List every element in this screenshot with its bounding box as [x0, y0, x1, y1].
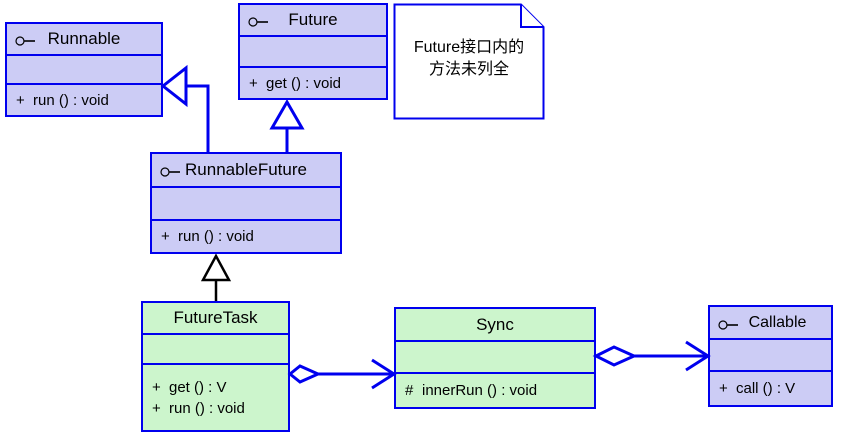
- operation-signature: get () : void: [266, 75, 341, 92]
- operation-visibility: #: [405, 380, 422, 401]
- class-operations-compartment-sync: #innerRun () : void: [396, 374, 594, 407]
- relationship-futuretask-to-sync: [290, 360, 394, 388]
- operation-row: +run () : void: [161, 226, 340, 247]
- class-operations-compartment-futuretask: +get () : V +run () : void: [143, 365, 288, 430]
- class-box-futuretask[interactable]: FutureTask +get () : V +run () : void: [141, 301, 290, 432]
- class-operations-compartment-future: +get () : void: [240, 68, 386, 98]
- operation-visibility: +: [161, 226, 178, 247]
- class-title-compartment-sync: Sync: [396, 309, 594, 342]
- class-title-compartment-runnablefuture: RunnableFuture: [152, 154, 340, 188]
- interface-icon: [718, 317, 740, 328]
- operation-row: +run () : void: [16, 90, 161, 111]
- relationship-runnablefuture-to-runnable: [163, 68, 208, 152]
- interface-icon: [15, 34, 37, 45]
- class-operations-compartment-runnablefuture: +run () : void: [152, 221, 340, 252]
- operation-visibility: +: [719, 378, 736, 399]
- class-box-future[interactable]: Future +get () : void: [238, 3, 388, 100]
- operation-row: +call () : V: [719, 378, 831, 399]
- operation-signature: run () : void: [169, 400, 245, 417]
- relationship-futuretask-to-runnablefuture: [203, 256, 229, 301]
- class-name-futuretask: FutureTask: [173, 308, 257, 328]
- class-attributes-compartment-runnablefuture: [152, 188, 340, 221]
- note-text: Future接口内的 方法未列全: [393, 37, 545, 81]
- operation-signature: run () : void: [33, 92, 109, 109]
- interface-icon: [160, 165, 182, 176]
- class-box-sync[interactable]: Sync #innerRun () : void: [394, 307, 596, 409]
- class-name-future: Future: [288, 10, 337, 30]
- operation-visibility: +: [249, 73, 266, 94]
- class-attributes-compartment-sync: [396, 342, 594, 374]
- operation-row: #innerRun () : void: [405, 380, 594, 401]
- operation-row: +run () : void: [152, 398, 288, 419]
- class-box-callable[interactable]: Callable +call () : V: [708, 305, 833, 407]
- class-name-runnable: Runnable: [48, 29, 121, 49]
- class-attributes-compartment-futuretask: [143, 335, 288, 365]
- operation-visibility: +: [152, 398, 169, 419]
- operation-signature: run () : void: [178, 228, 254, 245]
- operation-signature: get () : V: [169, 379, 227, 396]
- uml-diagram-canvas: Runnable +run () : void Future +get () :…: [0, 0, 841, 437]
- operation-visibility: +: [16, 90, 33, 111]
- interface-icon: [248, 15, 270, 26]
- class-box-runnablefuture[interactable]: RunnableFuture +run () : void: [150, 152, 342, 254]
- class-operations-compartment-runnable: +run () : void: [7, 85, 161, 115]
- relationship-runnablefuture-to-future: [272, 102, 302, 152]
- class-box-runnable[interactable]: Runnable +run () : void: [5, 22, 163, 117]
- operation-row: +get () : void: [249, 73, 386, 94]
- operation-signature: innerRun () : void: [422, 382, 537, 399]
- class-attributes-compartment-future: [240, 37, 386, 68]
- class-title-compartment-futuretask: FutureTask: [143, 303, 288, 335]
- operation-visibility: +: [152, 377, 169, 398]
- class-attributes-compartment-callable: [710, 340, 831, 372]
- class-attributes-compartment-runnable: [7, 56, 161, 85]
- class-name-sync: Sync: [476, 315, 514, 335]
- operation-row: +get () : V: [152, 377, 288, 398]
- class-operations-compartment-callable: +call () : V: [710, 372, 831, 405]
- operation-signature: call () : V: [736, 380, 795, 397]
- class-name-runnablefuture: RunnableFuture: [185, 160, 307, 180]
- note-box[interactable]: Future接口内的 方法未列全: [393, 3, 545, 120]
- class-title-compartment-callable: Callable: [710, 307, 831, 340]
- class-title-compartment-future: Future: [240, 5, 386, 37]
- class-name-callable: Callable: [749, 314, 807, 332]
- class-title-compartment-runnable: Runnable: [7, 24, 161, 56]
- relationship-sync-to-callable: [596, 342, 708, 370]
